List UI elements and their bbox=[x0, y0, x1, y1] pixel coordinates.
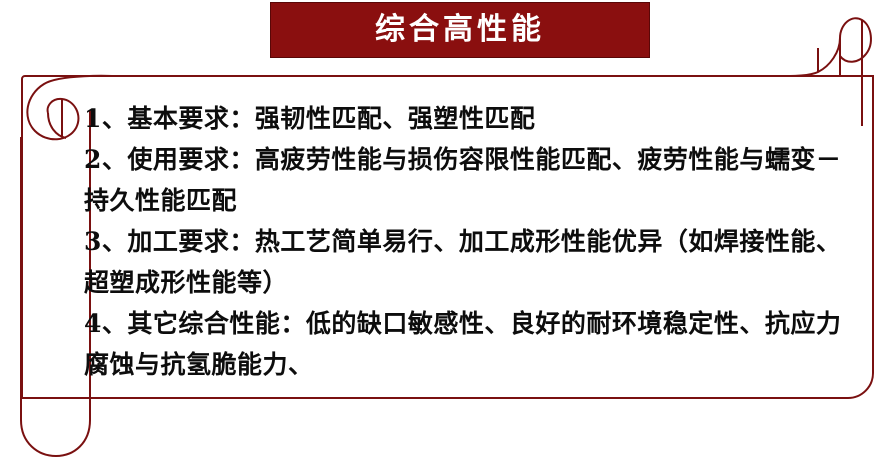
body-paragraph: 2、使用要求：高疲劳性能与损伤容限性能匹配、疲劳性能与蠕变－持久性能匹配 bbox=[84, 139, 860, 221]
slide-canvas: 综合高性能 1、基本要求：强韧性匹配、强塑性匹配 2、使用要求：高疲劳性能与损伤… bbox=[0, 0, 893, 468]
body-paragraph: 1、基本要求：强韧性匹配、强塑性匹配 bbox=[84, 98, 860, 139]
scroll-curl-right-icon bbox=[790, 18, 871, 76]
title-banner: 综合高性能 bbox=[270, 2, 650, 58]
body-paragraph: 3、加工要求：热工艺简单易行、加工成形性能优异（如焊接性能、超塑成形性能等） bbox=[84, 221, 860, 303]
page-title: 综合高性能 bbox=[375, 15, 545, 45]
body-text-block: 1、基本要求：强韧性匹配、强塑性匹配 2、使用要求：高疲劳性能与损伤容限性能匹配… bbox=[84, 98, 860, 385]
body-paragraph: 4、其它综合性能：低的缺口敏感性、良好的耐环境稳定性、抗应力腐蚀与抗氢脆能力、 bbox=[84, 303, 860, 385]
